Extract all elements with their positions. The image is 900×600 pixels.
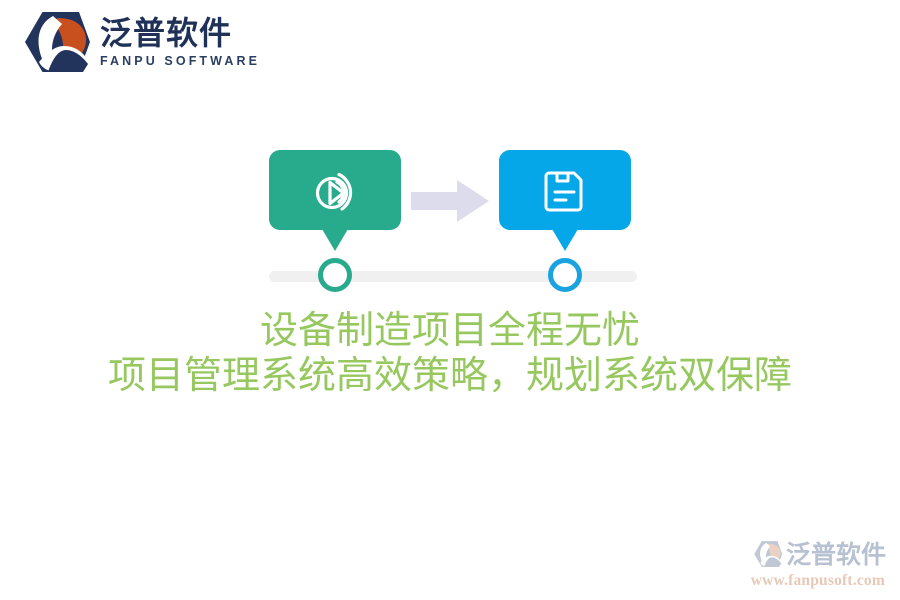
watermark-logo-row: 泛普软件: [753, 540, 886, 568]
brand-name-cn: 泛普软件: [100, 16, 260, 51]
fast-forward-circle-icon: [309, 164, 361, 216]
process-step-2[interactable]: [499, 150, 631, 230]
process-step-2-node[interactable]: [548, 258, 582, 292]
watermark: 泛普软件 www.fanpusoft.com: [751, 540, 886, 590]
process-step-1-node[interactable]: [318, 258, 352, 292]
watermark-url: www.fanpusoft.com: [751, 572, 885, 590]
fanpu-hexagon-logo-icon: [22, 10, 92, 74]
process-diagram: [0, 150, 900, 300]
process-step-1[interactable]: [269, 150, 401, 230]
brand-name-en: FANPU SOFTWARE: [100, 53, 260, 71]
headline: 设备制造项目全程无忧 项目管理系统高效策略，规划系统双保障: [0, 308, 900, 398]
brand-wordmark: 泛普软件 FANPU SOFTWARE: [100, 14, 260, 70]
brand-logo: 泛普软件 FANPU SOFTWARE: [22, 10, 260, 74]
headline-line-2: 项目管理系统高效策略，规划系统双保障: [0, 353, 900, 398]
save-document-icon: [541, 166, 589, 214]
headline-line-1: 设备制造项目全程无忧: [0, 308, 900, 353]
right-arrow-icon: [411, 179, 489, 223]
process-step-1-card[interactable]: [269, 150, 401, 230]
watermark-name-cn: 泛普软件: [786, 542, 886, 567]
fanpu-hexagon-logo-icon: [753, 540, 783, 568]
process-step-2-card[interactable]: [499, 150, 631, 230]
